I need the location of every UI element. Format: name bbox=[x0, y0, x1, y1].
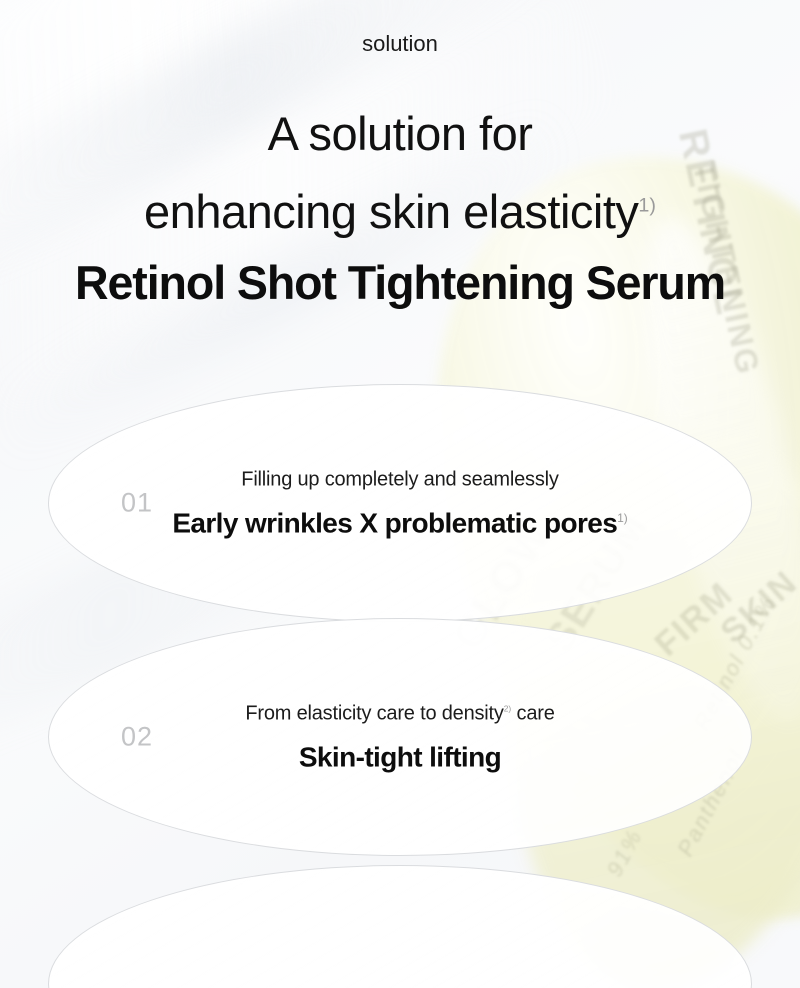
solution-section: solution A solution for enhancing skin e… bbox=[0, 0, 800, 988]
benefit-card-subtitle-suffix: care bbox=[511, 702, 554, 724]
benefit-card-title-text: Early wrinkles X problematic pores bbox=[172, 507, 617, 538]
benefit-card-subtitle-text: From elasticity care to density bbox=[245, 702, 503, 724]
footnote-ref-1: 1) bbox=[617, 512, 627, 525]
benefit-card-01[interactable]: 01 Filling up completely and seamlessly … bbox=[48, 384, 752, 622]
benefit-card-title: Early wrinkles X problematic pores1) bbox=[139, 505, 661, 541]
benefit-card-03[interactable]: 03 Filling up completely and seamlessly … bbox=[48, 865, 752, 988]
benefit-card-subtitle: Filling up completely and seamlessly bbox=[139, 464, 661, 494]
benefit-card-body: Filling up completely and seamlessly Ear… bbox=[49, 464, 751, 541]
benefit-card-title: Skin-tight lifting bbox=[139, 739, 661, 775]
benefit-card-body: From elasticity care to density2) care S… bbox=[49, 698, 751, 775]
benefit-card-02[interactable]: 02 From elasticity care to density2) car… bbox=[48, 618, 752, 856]
benefit-card-list: 01 Filling up completely and seamlessly … bbox=[0, 0, 800, 988]
benefit-card-subtitle: From elasticity care to density2) care bbox=[139, 698, 661, 728]
